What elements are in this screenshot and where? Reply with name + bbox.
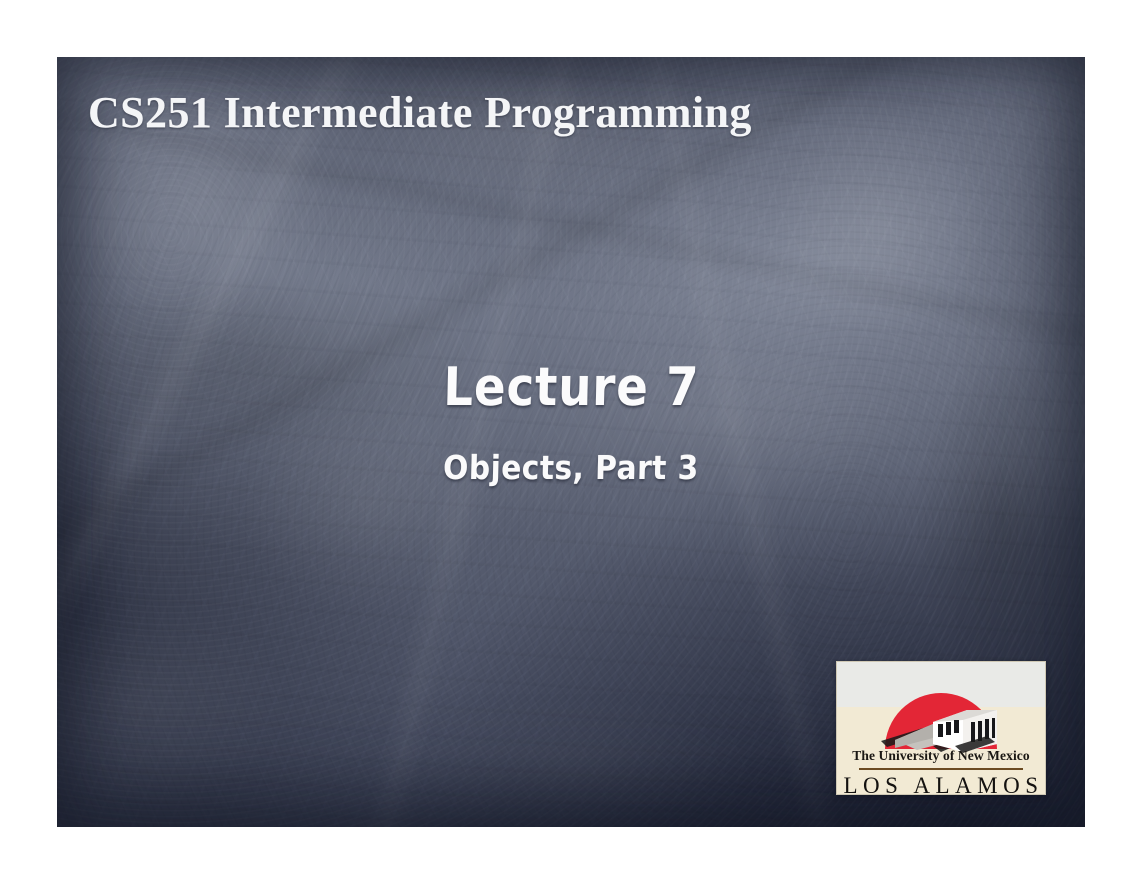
- unm-los-alamos-logo: The University of New Mexico LOS ALAMOS: [836, 661, 1046, 795]
- logo-university-line: The University of New Mexico: [837, 748, 1045, 764]
- lecture-heading-block: Lecture 7 Objects, Part 3: [57, 357, 1085, 487]
- lecture-number: Lecture 7: [442, 357, 699, 418]
- logo-text-block: The University of New Mexico LOS ALAMOS: [837, 748, 1045, 795]
- slide-page: CS251 Intermediate Programming Lecture 7…: [0, 0, 1144, 884]
- page-title: CS251 Intermediate Programming: [88, 87, 752, 138]
- chalkboard-slide: CS251 Intermediate Programming Lecture 7…: [57, 57, 1085, 827]
- logo-divider-rule: [859, 768, 1023, 770]
- lecture-subtitle: Objects, Part 3: [443, 448, 699, 487]
- logo-campus-line: LOS ALAMOS: [837, 773, 1045, 796]
- logo-artwork: [837, 662, 1045, 754]
